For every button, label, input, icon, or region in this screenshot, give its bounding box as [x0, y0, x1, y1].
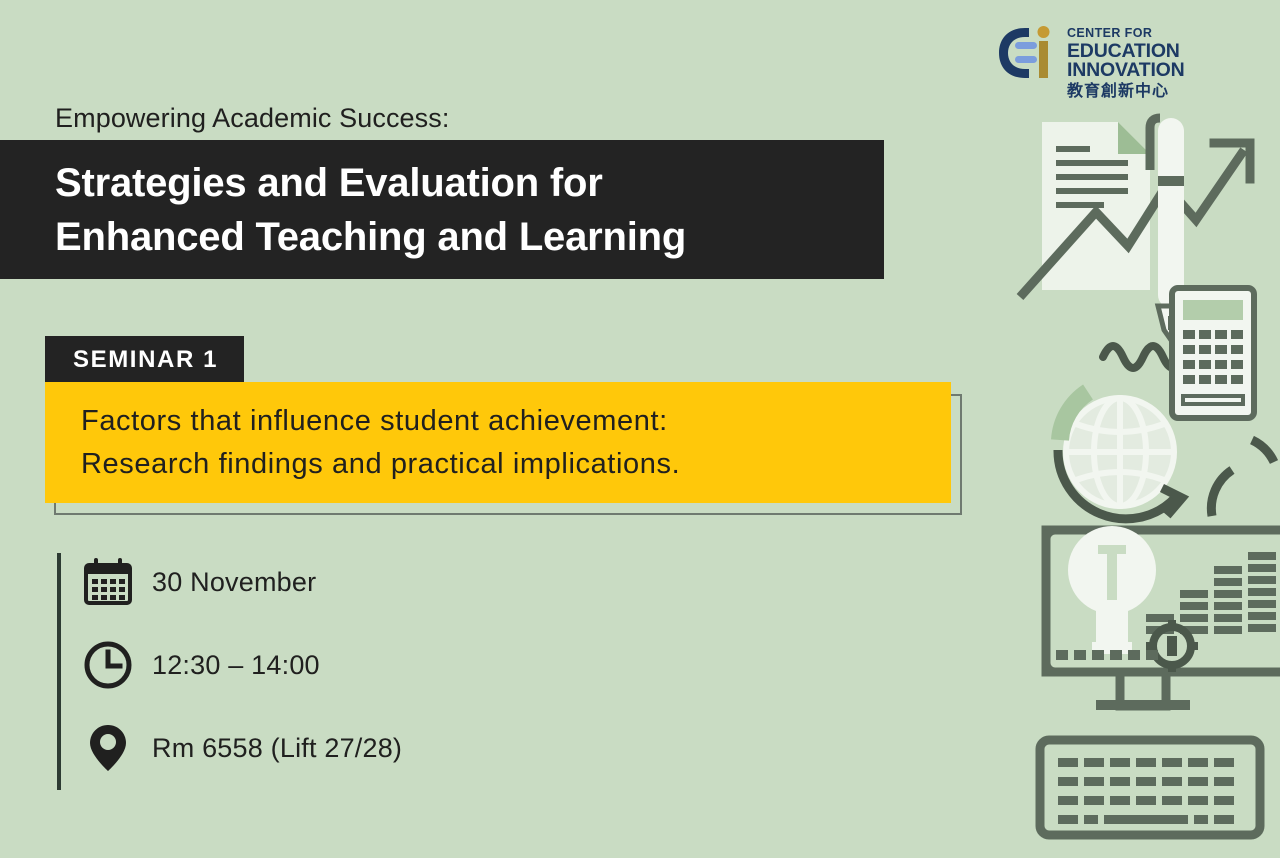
- monitor-dots-icon: [1056, 650, 1158, 660]
- title-band: Strategies and Evaluation for Enhanced T…: [0, 140, 884, 279]
- details-vertical-rule: [57, 553, 61, 790]
- gear-icon: [1146, 620, 1198, 672]
- logo-line-center-for: CENTER FOR: [1067, 27, 1280, 40]
- logo: CENTER FOR EDUCATION INNOVATION 教育創新中心: [995, 24, 1280, 99]
- clock-icon: [82, 639, 134, 691]
- logo-line-education-innovation: EDUCATION INNOVATION: [1067, 42, 1280, 81]
- lightbulb-icon: [1068, 526, 1156, 654]
- title-line-1: Strategies and Evaluation for: [55, 156, 884, 210]
- logo-line-chinese: 教育創新中心: [1067, 83, 1280, 99]
- detail-value-date: 30 November: [152, 567, 316, 598]
- monitor-icon: [1046, 530, 1280, 710]
- detail-row-location: Rm 6558 (Lift 27/28): [82, 722, 402, 774]
- detail-value-time: 12:30 – 14:00: [152, 650, 320, 681]
- topic-line-1: Factors that influence student achieveme…: [81, 400, 951, 442]
- growth-arrow-icon: [1020, 143, 1250, 297]
- detail-value-location: Rm 6558 (Lift 27/28): [152, 733, 402, 764]
- bar-chart-icon: [1146, 552, 1276, 634]
- calendar-icon: [82, 556, 134, 608]
- detail-row-time: 12:30 – 14:00: [82, 639, 402, 691]
- globe-icon: [1058, 392, 1274, 519]
- document-icon: [1042, 122, 1150, 290]
- location-pin-icon: [82, 722, 134, 774]
- fountain-pen-icon: [1150, 118, 1184, 340]
- logo-mark-icon: [995, 24, 1057, 82]
- calculator-icon: [1172, 288, 1254, 418]
- detail-row-date: 30 November: [82, 556, 402, 608]
- signature-squiggle-icon: [1103, 346, 1183, 368]
- details-list: 30 November 12:30 – 14:00 Rm 6558 (Lift …: [82, 556, 402, 774]
- title-line-2: Enhanced Teaching and Learning: [55, 210, 884, 264]
- topic-line-2: Research findings and practical implicat…: [81, 443, 951, 485]
- kicker-text: Empowering Academic Success:: [55, 103, 449, 134]
- keyboard-icon: [1040, 740, 1260, 835]
- topic-box: Factors that influence student achieveme…: [45, 382, 951, 503]
- illustration-panel: [1000, 0, 1280, 858]
- seminar-badge: SEMINAR 1: [45, 336, 244, 385]
